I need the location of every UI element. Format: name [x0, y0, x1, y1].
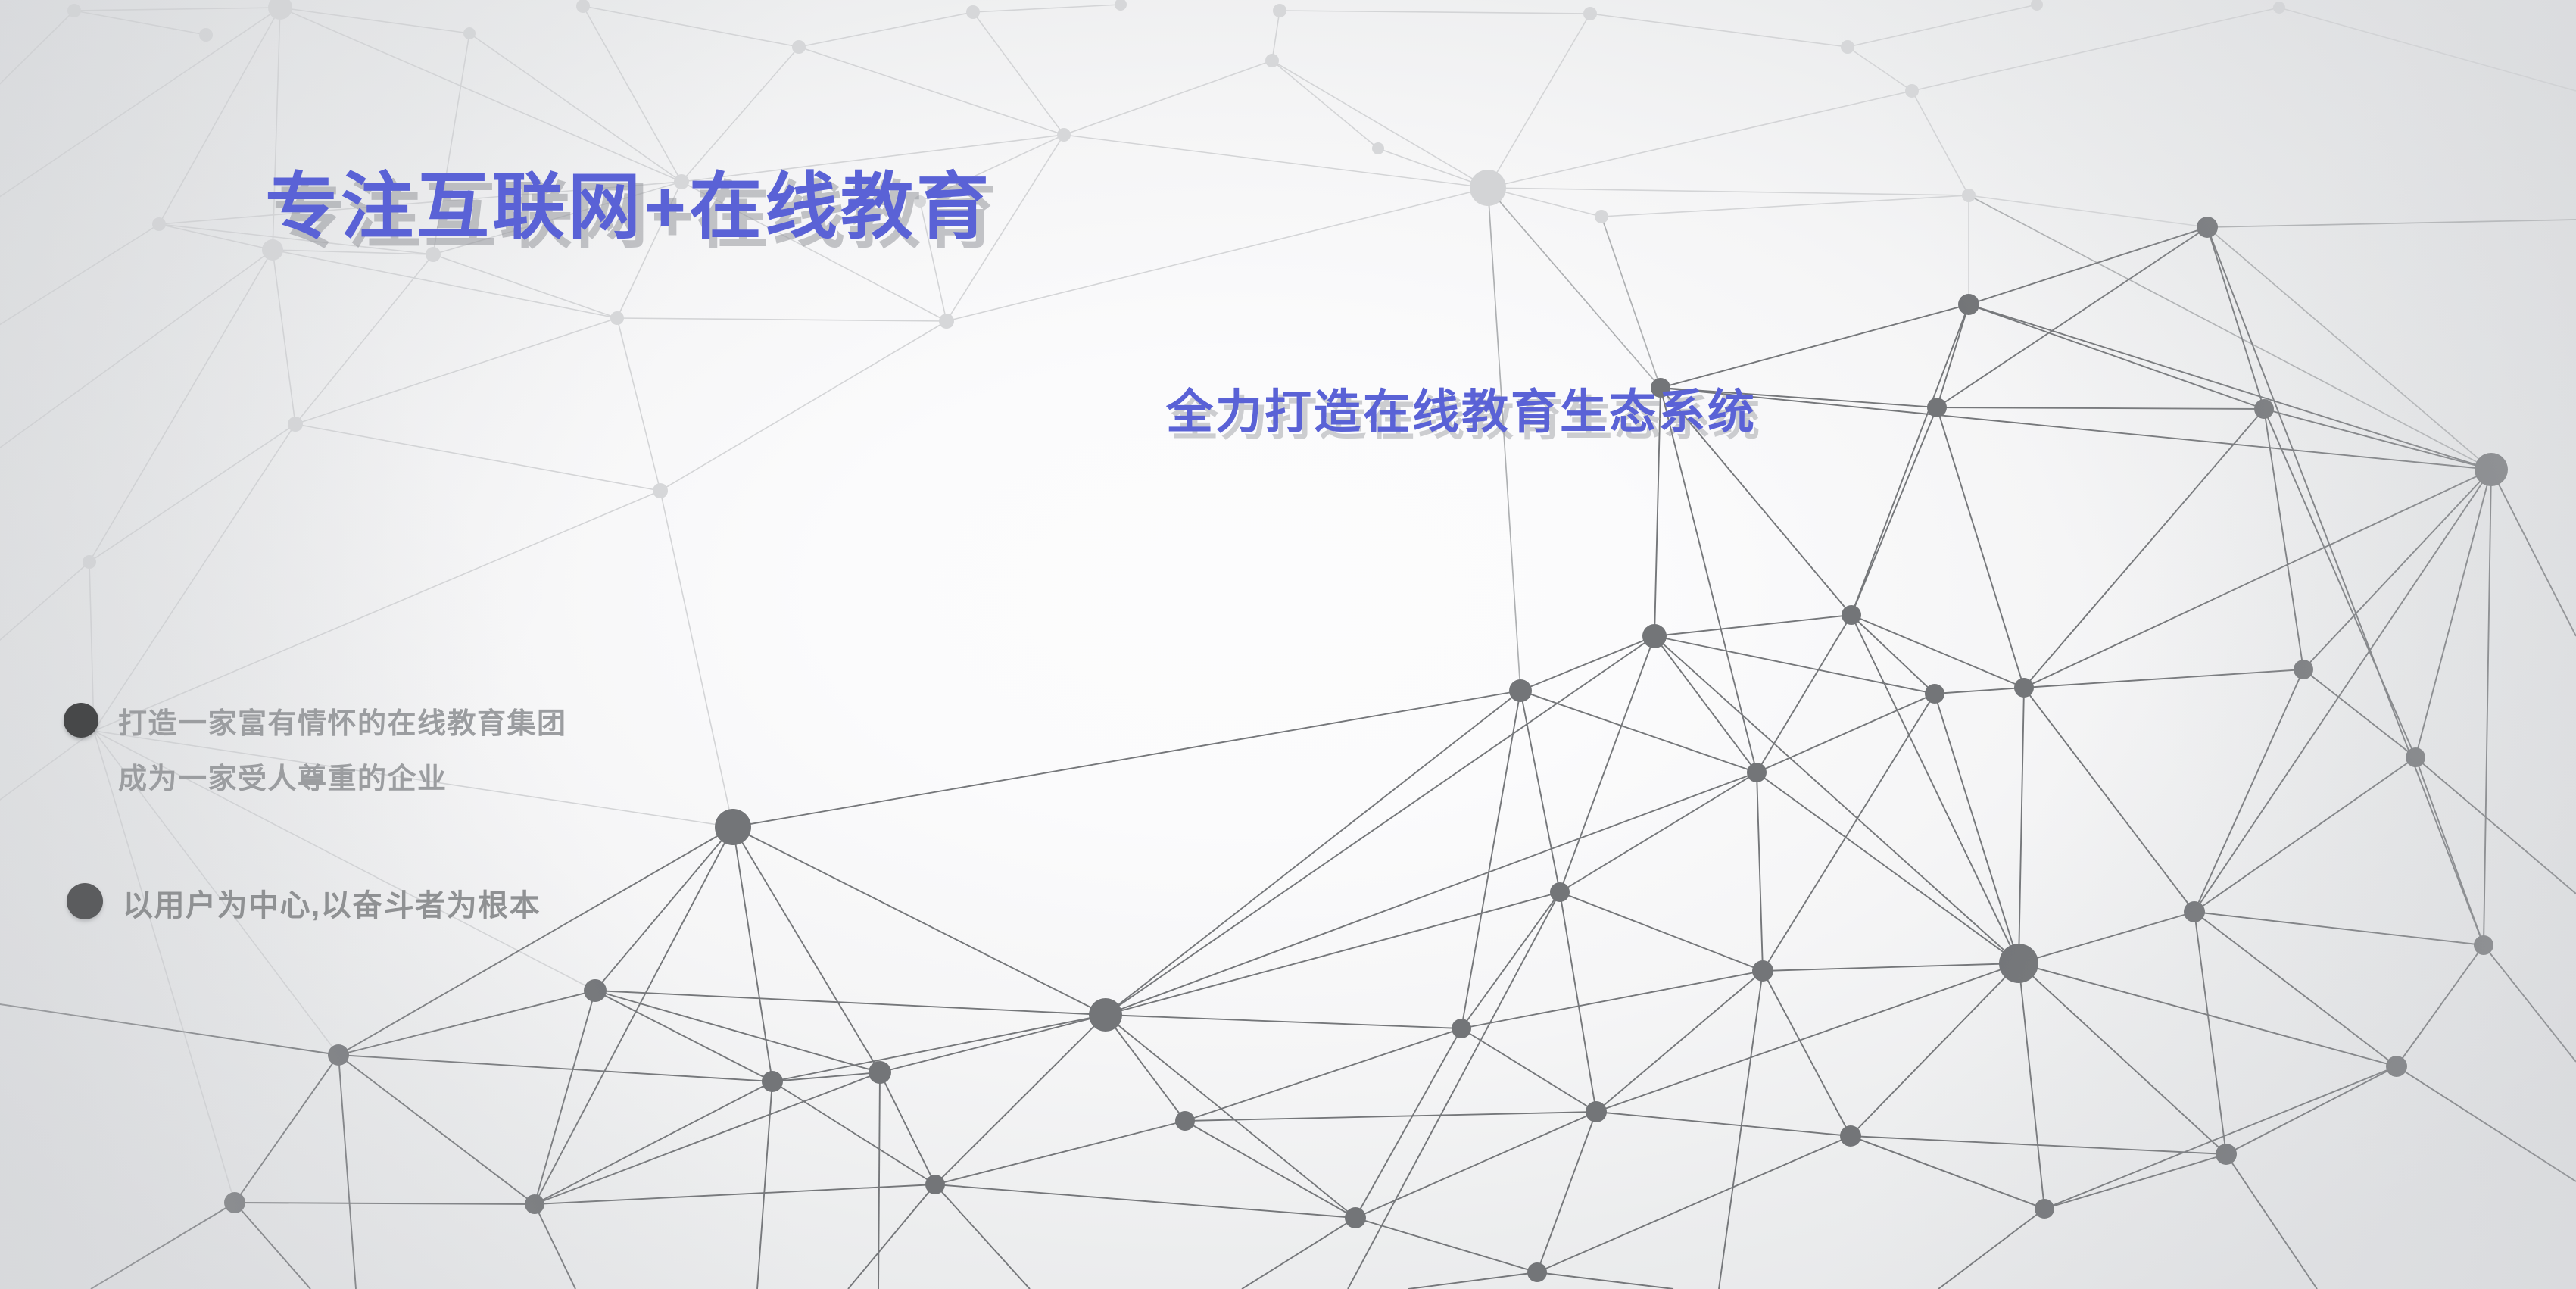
bullet-text: 以用户为中心,以奋斗者为根本	[123, 877, 541, 935]
bullet-line: 成为一家受人尊重的企业	[118, 752, 567, 807]
filled-circle-bullet-icon	[64, 703, 98, 738]
network-node-faint	[67, 0, 2285, 569]
page-title: 专注互联网+在线教育	[265, 164, 992, 251]
bullet-item: 打造一家富有情怀的在线教育集团 成为一家受人尊重的企业	[64, 697, 567, 807]
page-subtitle: 全力打造在线教育生态系统	[1166, 385, 1757, 441]
bullet-line: 以用户为中心,以奋斗者为根本	[123, 877, 541, 935]
network-node-hub-faint	[1470, 170, 1506, 206]
filled-circle-bullet-icon	[67, 883, 103, 919]
bullet-text: 打造一家富有情怀的在线教育集团 成为一家受人尊重的企业	[118, 697, 567, 807]
bullet-line: 打造一家富有情怀的在线教育集团	[118, 697, 567, 752]
bullet-item: 以用户为中心,以奋斗者为根本	[67, 877, 541, 935]
slide-canvas: 专注互联网+在线教育 全力打造在线教育生态系统 打造一家富有情怀的在线教育集团 …	[0, 0, 2576, 1289]
